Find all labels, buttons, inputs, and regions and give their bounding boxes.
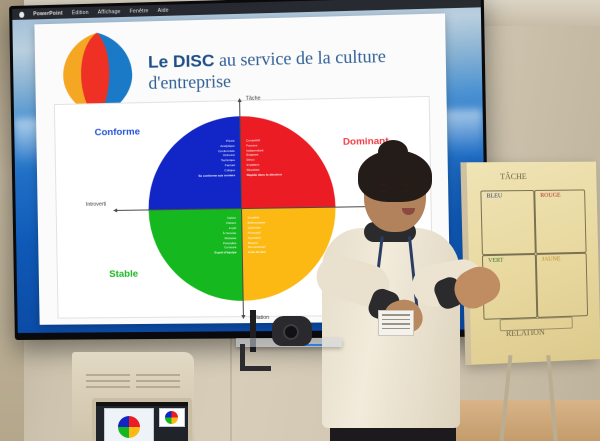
presenter-laptop[interactable] xyxy=(92,398,192,441)
slide-title-strong: Le DISC xyxy=(148,51,215,72)
trait-item: Crée du lien xyxy=(248,250,266,255)
name-badge xyxy=(378,310,414,336)
arrow-left-icon xyxy=(113,208,117,212)
traits-conforme: PrécisAnalytiqueConformisteOrdonnéTechni… xyxy=(198,138,237,178)
presenter-brow-right xyxy=(402,183,411,185)
presenter-hair-bun xyxy=(378,140,408,164)
badge-line-3 xyxy=(382,323,410,325)
stand-leg-right xyxy=(546,355,557,441)
laptop-disc-wheel-icon xyxy=(118,416,140,438)
shelf-bracket xyxy=(240,344,271,371)
meeting-room-photo: PowerPoint Édition Affichage Fenêtre Aid… xyxy=(0,0,600,441)
presenter xyxy=(316,150,516,441)
menu-item-affichage[interactable]: Affichage xyxy=(98,8,121,15)
lectern-slot-2 xyxy=(86,380,130,382)
trait-item: Se conforme aux normes xyxy=(198,173,235,179)
camera-lens-icon xyxy=(283,324,299,340)
badge-line-2 xyxy=(382,319,410,321)
traits-influent: SociableEnthousiasteOptimistePersuasifSp… xyxy=(245,216,266,256)
badge-line-1 xyxy=(382,314,410,316)
lectern-slot-6 xyxy=(136,386,180,388)
trait-item: Rapide dans la décision xyxy=(247,172,282,178)
lectern-slot-4 xyxy=(136,374,180,376)
traits-stable: CalmePatientLoyalÀ l'écouteModestePrévis… xyxy=(214,216,239,256)
flipchart-title-jaune: JAUNE xyxy=(542,256,561,262)
badge-line-4 xyxy=(382,328,410,330)
menu-item-powerpoint[interactable]: PowerPoint xyxy=(33,10,63,17)
quadrant-label-conforme: Conforme xyxy=(95,126,141,138)
laptop-slide-thumbnail xyxy=(159,408,185,427)
lectern-slot-5 xyxy=(136,380,180,382)
menu-item-fenetre[interactable]: Fenêtre xyxy=(130,8,149,15)
laptop-presenter-window xyxy=(104,408,154,441)
lectern-slot-3 xyxy=(86,386,130,388)
arrow-down-icon xyxy=(241,315,245,319)
traits-dominant: CompétitifFonceurIndépendantExigeantDire… xyxy=(244,138,282,178)
menu-item-edition[interactable]: Édition xyxy=(72,9,89,15)
video-conference-camera[interactable] xyxy=(272,316,312,346)
quadrant-label-stable: Stable xyxy=(109,269,138,280)
presenter-brow-left xyxy=(378,184,387,186)
arrow-up-icon xyxy=(237,98,241,102)
axis-label-introverti: Introverti xyxy=(86,202,106,208)
thumbnail-disc-wheel-icon xyxy=(165,411,178,424)
lectern-slot-1 xyxy=(86,374,130,376)
slide-title: Le DISC au service de la culture d'entre… xyxy=(148,44,438,94)
laptop-screen xyxy=(96,402,188,441)
presenter-eye-left xyxy=(379,190,386,193)
flipchart-title-rouge: ROUGE xyxy=(540,193,560,199)
axis-label-tache: Tâche xyxy=(246,96,261,102)
flipchart-box-rouge xyxy=(534,189,586,254)
presenter-eye-right xyxy=(403,189,410,192)
menu-item-aide[interactable]: Aide xyxy=(158,7,169,13)
disc-wheel: PrécisAnalytiqueConformisteOrdonnéTechni… xyxy=(147,114,337,301)
laptop-menu-bar xyxy=(96,402,188,406)
apple-icon[interactable] xyxy=(19,11,24,17)
trait-item: Esprit d'équipe xyxy=(214,250,236,255)
